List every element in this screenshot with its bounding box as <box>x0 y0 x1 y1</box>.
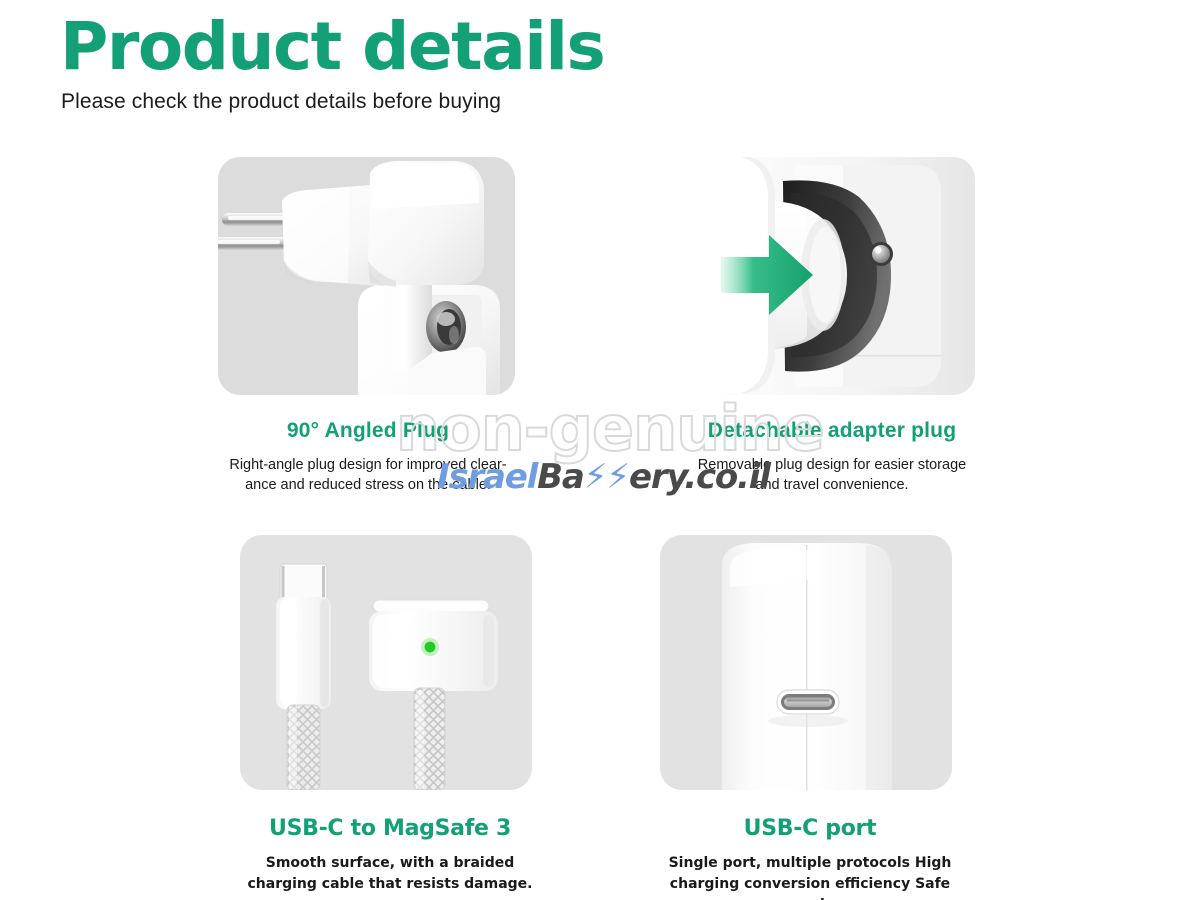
magsafe-connector <box>369 600 498 790</box>
feature-description-usbc-to-magsafe: Smooth surface, with a braided charging … <box>240 853 540 895</box>
feature-image-detachable-adapter <box>683 157 975 395</box>
feature-title-detachable-adapter: Detachable adapter plug <box>683 419 981 443</box>
usbc-port-illustration <box>660 535 952 790</box>
feature-image-usbc-port <box>660 535 952 790</box>
logo-text-ba: Ba <box>537 457 583 497</box>
usbc-magsafe-illustration <box>240 535 532 790</box>
feature-title-usbc-port: USB-C port <box>660 816 960 841</box>
feature-description-usbc-port: Single port, multiple protocols High cha… <box>660 853 960 900</box>
page-title: Product details <box>60 8 604 86</box>
usb-c-connector <box>276 564 331 790</box>
angled-plug-illustration <box>218 157 515 395</box>
feature-description-detachable-adapter: Removable plug design for easier storage… <box>683 455 981 495</box>
feature-card-angled-plug: 90° Angled Plug Right-angle plug design … <box>218 157 518 495</box>
feature-title-angled-plug: 90° Angled Plug <box>218 419 518 443</box>
status-led-icon <box>425 642 436 653</box>
lightning-bolt-icon: ⚡⚡ <box>584 457 629 497</box>
product-details-page: Product details Please check the product… <box>0 0 1200 900</box>
feature-image-usbc-to-magsafe <box>240 535 532 790</box>
feature-description-angled-plug: Right-angle plug design for improved cle… <box>218 455 518 495</box>
feature-title-usbc-to-magsafe: USB-C to MagSafe 3 <box>240 816 540 841</box>
feature-card-detachable-adapter: Detachable adapter plug Removable plug d… <box>683 157 981 495</box>
feature-card-usbc-to-magsafe: USB-C to MagSafe 3 Smooth surface, with … <box>240 535 540 895</box>
detachable-adapter-illustration <box>683 157 975 395</box>
feature-card-usbc-port: USB-C port Single port, multiple protoco… <box>660 535 960 900</box>
feature-image-angled-plug <box>218 157 515 395</box>
page-subtitle: Please check the product details before … <box>61 90 501 114</box>
usb-c-port-icon <box>777 690 839 714</box>
